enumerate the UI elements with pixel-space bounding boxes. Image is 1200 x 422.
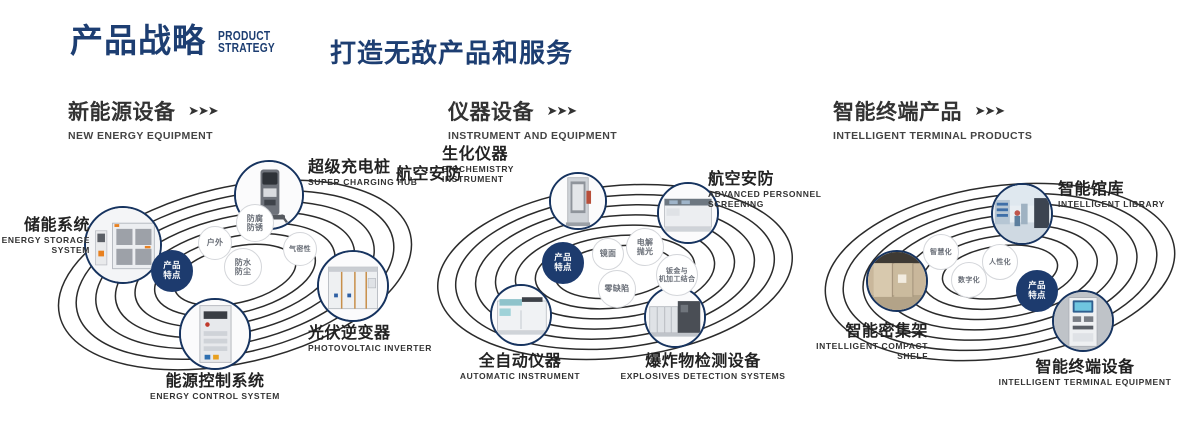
bubble-feature-zero-defect: 零缺陷 bbox=[598, 270, 636, 308]
chevron-right-icons: ➤➤➤ bbox=[188, 103, 218, 119]
label-cn: 全自动仪器 bbox=[430, 352, 610, 370]
compact-shelf-photo bbox=[868, 252, 926, 310]
label-intelligent-compact-shelf: 智能密集架 INTELLIGENT COMPACT SHELF bbox=[768, 322, 928, 362]
section-title-en: INSTRUMENT AND EQUIPMENT bbox=[448, 130, 617, 142]
node-intelligent-terminal-equipment[interactable] bbox=[1052, 290, 1114, 352]
bubble-feature-smart: 智慧化 bbox=[923, 234, 959, 270]
node-energy-control-system[interactable] bbox=[179, 298, 251, 370]
section-title-cn: 新能源设备 bbox=[68, 96, 176, 126]
label-cn: 航空安防 bbox=[396, 165, 496, 183]
section-title-en: NEW ENERGY EQUIPMENT bbox=[68, 130, 218, 142]
bubble-feature-anticorrosion: 防腐 防锈 bbox=[236, 204, 274, 242]
label-automatic-instrument: 全自动仪器 AUTOMATIC INSTRUMENT bbox=[430, 352, 610, 382]
label-en: INTELLIGENT TERMINAL EQUIPMENT bbox=[992, 378, 1178, 388]
label-cn: 储能系统 bbox=[0, 216, 90, 234]
self-service-kiosk-photo bbox=[1054, 292, 1112, 350]
energy-storage-cabinet-photo bbox=[86, 208, 160, 282]
control-cabinet-photo bbox=[181, 300, 249, 368]
node-automatic-instrument[interactable] bbox=[490, 284, 552, 346]
bubble-feature-digital: 数字化 bbox=[951, 262, 987, 298]
badge-product-features: 产品 特点 bbox=[1016, 270, 1058, 312]
label-cn: 能源控制系统 bbox=[82, 372, 348, 390]
label-energy-storage-system: 储能系统 ENERGY STORAGE SYSTEM bbox=[0, 216, 90, 256]
label-intelligent-terminal-equipment: 智能终端设备 INTELLIGENT TERMINAL EQUIPMENT bbox=[992, 358, 1178, 388]
page-title-en: PRODUCT STRATEGY bbox=[218, 31, 275, 57]
label-energy-control-system: 能源控制系统 ENERGY CONTROL SYSTEM bbox=[82, 372, 348, 402]
page-subtitle: 打造无敌产品和服务 bbox=[330, 33, 573, 70]
section-title-intelligent-terminal: 智能终端产品 ➤➤➤ INTELLIGENT TERMINAL PRODUCTS bbox=[833, 96, 1032, 142]
page-title-cn: 产品战略 bbox=[70, 24, 206, 57]
chevron-right-icons: ➤➤➤ bbox=[546, 103, 576, 119]
bubble-feature-mirror-finish: 镜面 bbox=[592, 238, 624, 270]
section-title-instrument: 仪器设备 ➤➤➤ INSTRUMENT AND EQUIPMENT bbox=[448, 96, 617, 142]
label-en: ENERGY CONTROL SYSTEM bbox=[82, 392, 348, 402]
bubble-feature-sheetmetal-machining: 钣金与 机加工结合 bbox=[656, 254, 698, 296]
bubble-feature-waterproof: 防水 防尘 bbox=[224, 248, 262, 286]
cluster-new-energy: 储能系统 ENERGY STORAGE SYSTEM 超级充电桩 SUPER C… bbox=[40, 150, 430, 400]
section-title-en: INTELLIGENT TERMINAL PRODUCTS bbox=[833, 130, 1032, 142]
label-en: EXPLOSIVES DETECTION SYSTEMS bbox=[600, 372, 806, 382]
label-cn: 智能密集架 bbox=[768, 322, 928, 340]
label-aviation-security-left: 航空安防 bbox=[396, 165, 496, 183]
section-title-cn: 仪器设备 bbox=[448, 96, 534, 126]
explosives-detector-photo bbox=[646, 288, 704, 346]
label-intelligent-library: 智能馆库 INTELLIGENT LIBRARY bbox=[1058, 180, 1198, 210]
section-title-cn: 智能终端产品 bbox=[833, 96, 962, 126]
page-title: 产品战略 PRODUCT STRATEGY bbox=[70, 24, 288, 57]
node-photovoltaic-inverter[interactable] bbox=[317, 250, 389, 322]
bubble-feature-humanized: 人性化 bbox=[982, 244, 1018, 280]
bubble-feature-electropolishing: 电解 抛光 bbox=[626, 228, 664, 266]
node-intelligent-library[interactable] bbox=[991, 183, 1053, 245]
badge-product-features: 产品 特点 bbox=[542, 242, 584, 284]
label-cn: 生化仪器 bbox=[442, 145, 558, 163]
automatic-analyzer-photo bbox=[492, 286, 550, 344]
badge-product-features: 产品 特点 bbox=[151, 250, 193, 292]
biochem-analyzer-photo bbox=[551, 174, 605, 228]
label-cn: 智能馆库 bbox=[1058, 180, 1198, 198]
label-en: INTELLIGENT LIBRARY bbox=[1058, 200, 1198, 210]
cluster-instrument: 生化仪器 BIOCHEMISTRY INSTRUMENT 航空安防 航空安防 A… bbox=[420, 150, 810, 400]
bubble-feature-airtight: 气密性 bbox=[283, 232, 317, 266]
node-intelligent-compact-shelf[interactable] bbox=[866, 250, 928, 312]
chevron-right-icons: ➤➤➤ bbox=[974, 103, 1004, 119]
label-en: AUTOMATIC INSTRUMENT bbox=[430, 372, 610, 382]
library-interior-photo bbox=[993, 185, 1051, 243]
cluster-intelligent-terminal: 智能馆库 INTELLIGENT LIBRARY 智能密集架 INTELLIGE… bbox=[810, 150, 1200, 400]
section-title-new-energy: 新能源设备 ➤➤➤ NEW ENERGY EQUIPMENT bbox=[68, 96, 218, 142]
product-strategy-infographic: 产品战略 PRODUCT STRATEGY 打造无敌产品和服务 新能源设备 ➤➤… bbox=[0, 0, 1200, 422]
label-en: ENERGY STORAGE SYSTEM bbox=[0, 236, 90, 256]
label-cn: 智能终端设备 bbox=[992, 358, 1178, 376]
label-en: INTELLIGENT COMPACT SHELF bbox=[768, 342, 928, 362]
inverter-cabinet-photo bbox=[319, 252, 387, 320]
